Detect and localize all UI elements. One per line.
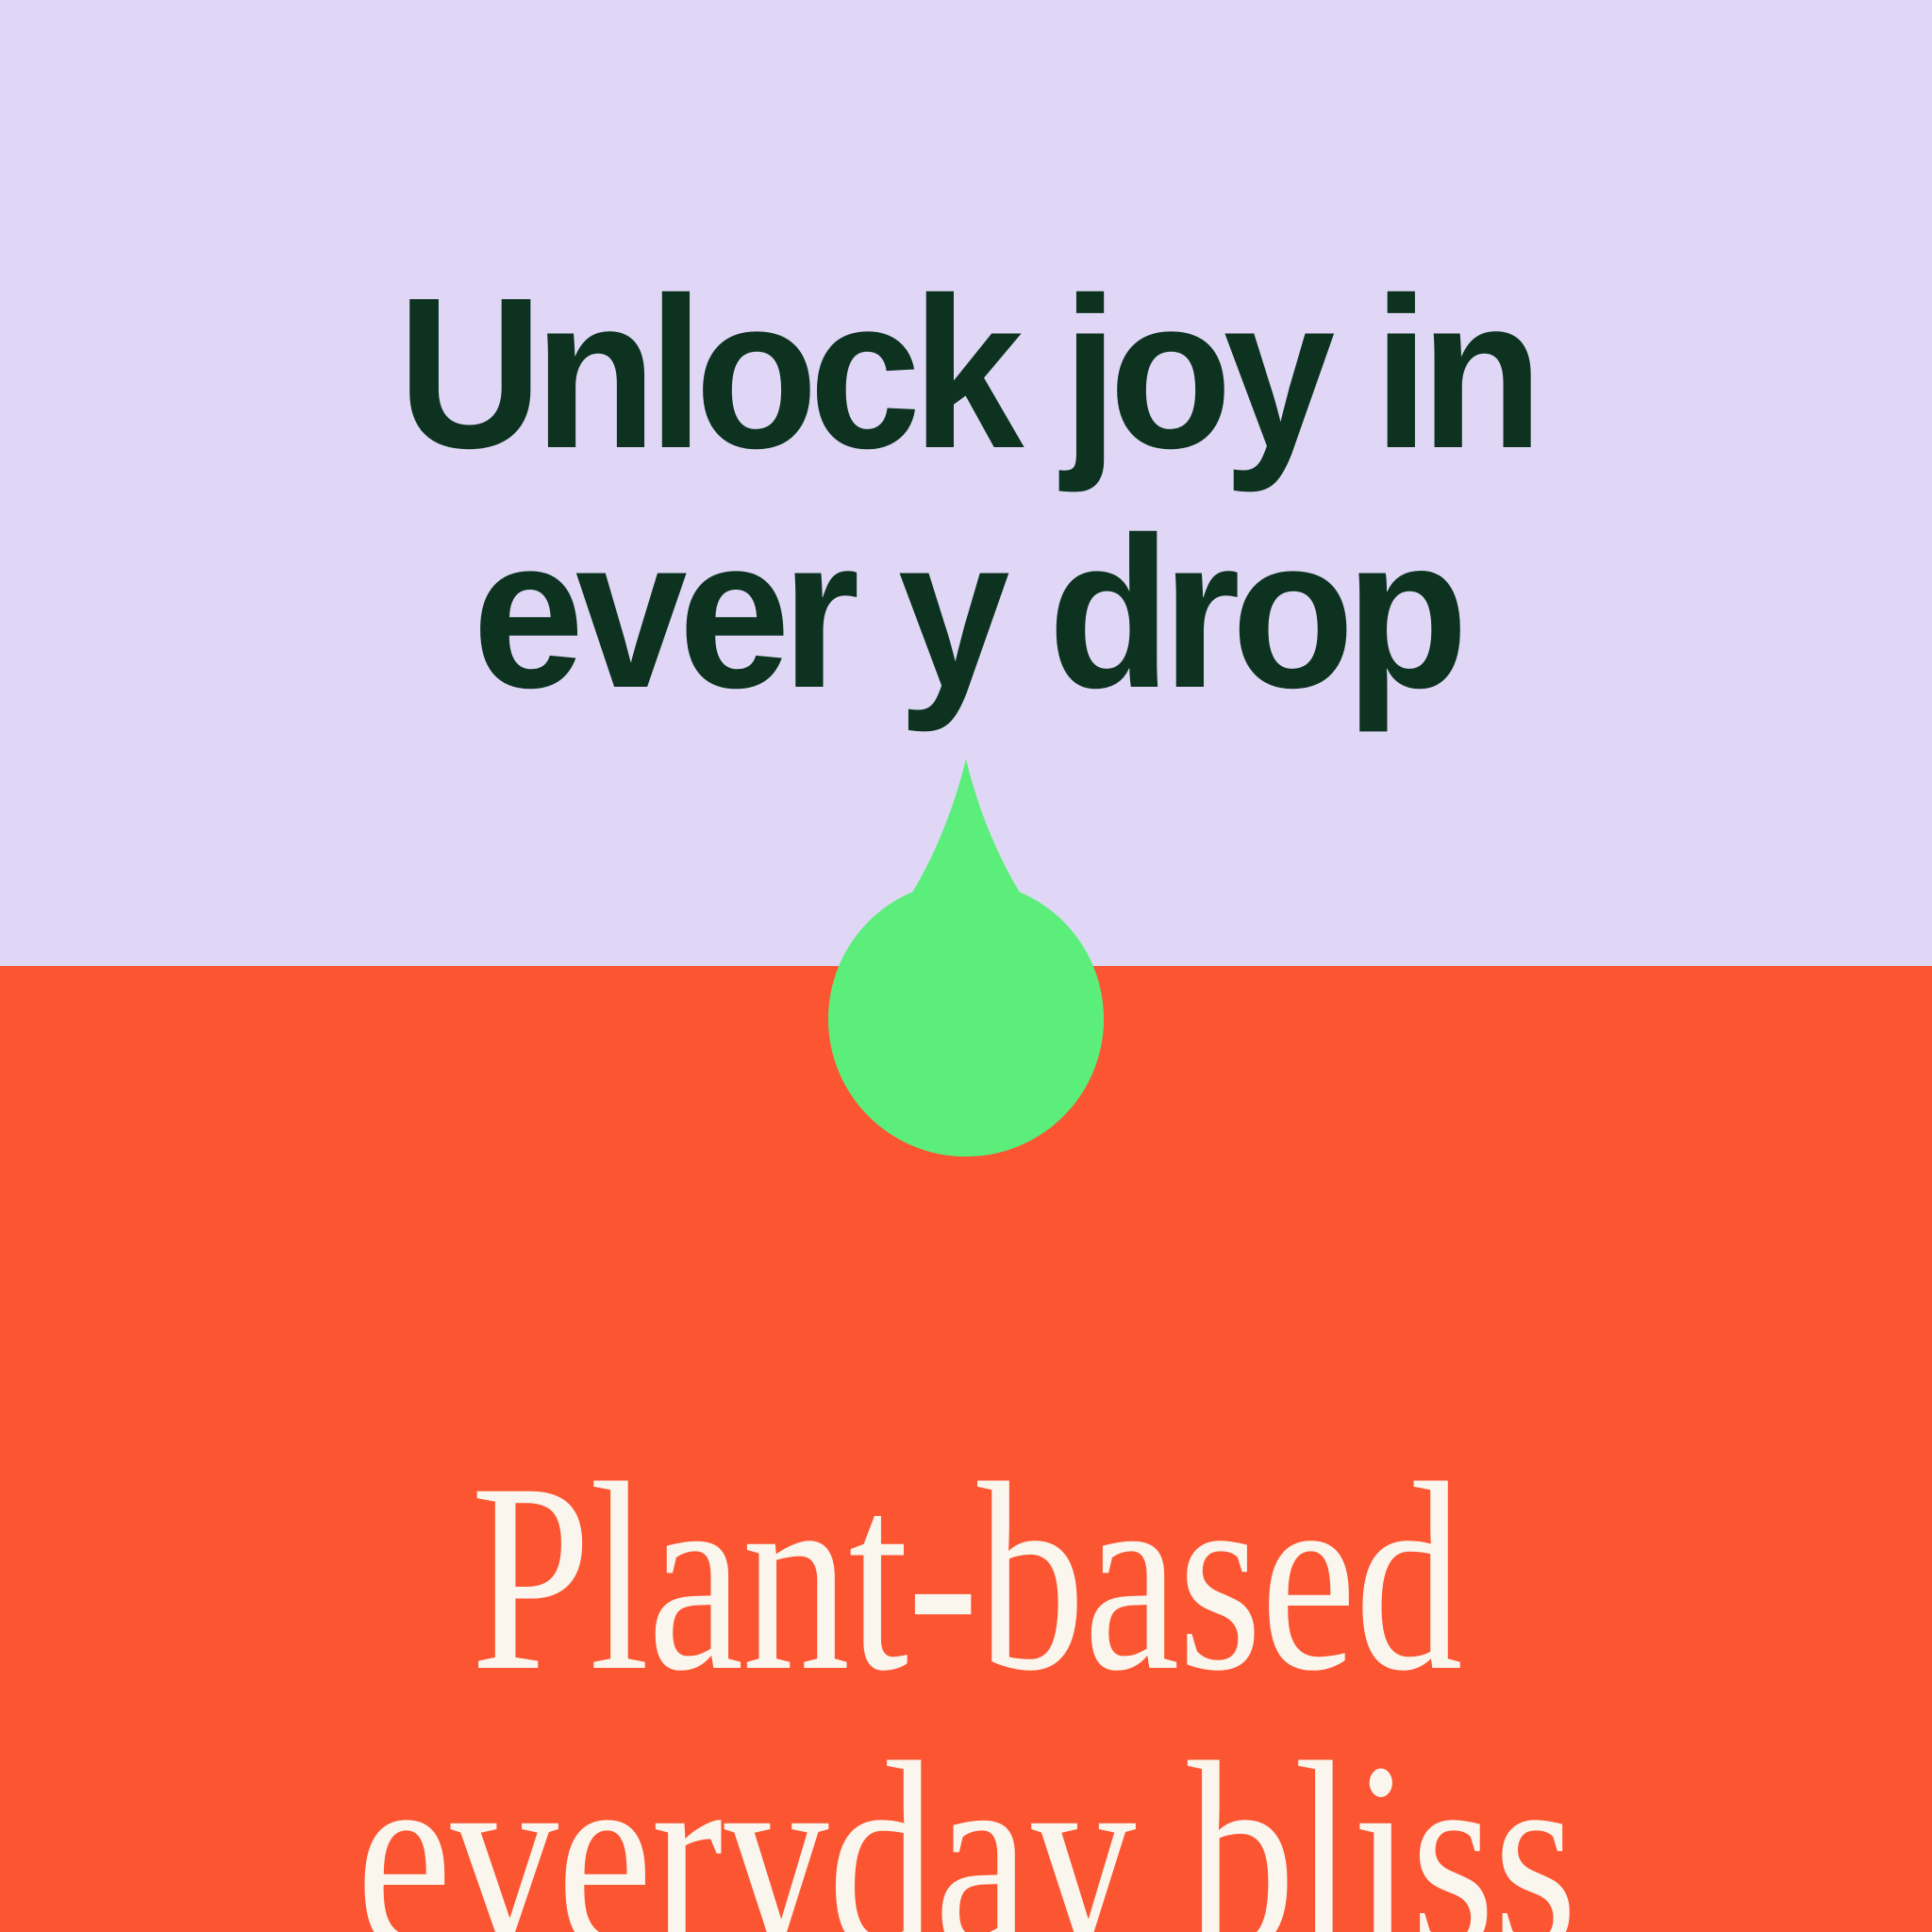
subline-text: Plant-based everyday bliss [193,1438,1739,1932]
poster-canvas: Unlock joy in ever y drop Plant-based ev… [0,0,1932,1932]
headline-text: Unlock joy in ever y drop [63,254,1870,733]
water-droplet-icon [828,758,1104,1157]
water-droplet-shape [828,758,1104,1157]
